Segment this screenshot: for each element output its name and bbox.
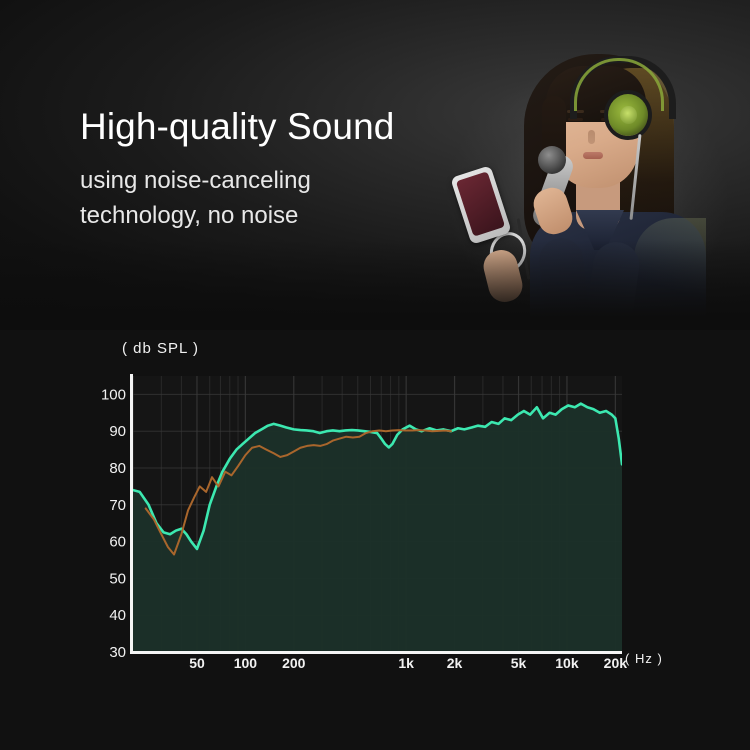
y-tick-label: 100 — [101, 386, 126, 403]
x-tick-label: 10k — [555, 655, 579, 671]
y-tick-label: 40 — [109, 607, 126, 624]
y-tick-label: 80 — [109, 460, 126, 477]
y-tick-label: 50 — [109, 570, 126, 587]
x-tick-label: 200 — [282, 655, 306, 671]
x-axis-ticks: 501002001k2k5k10k20k — [189, 655, 627, 671]
y-tick-label: 70 — [109, 497, 126, 514]
y-axis-ticks: 10090807060504030 — [101, 386, 126, 661]
product-feature-page: High-quality Sound using noise-canceling… — [0, 0, 750, 750]
chart-svg: 10090807060504030 501002001k2k5k10k20k — [0, 0, 750, 750]
x-tick-label: 50 — [189, 655, 205, 671]
y-tick-label: 30 — [109, 644, 126, 661]
x-tick-label: 2k — [447, 655, 463, 671]
x-tick-label: 1k — [398, 655, 414, 671]
x-tick-label: 100 — [234, 655, 258, 671]
x-tick-label: 20k — [604, 655, 628, 671]
y-tick-label: 90 — [109, 423, 126, 440]
x-tick-label: 5k — [511, 655, 527, 671]
y-tick-label: 60 — [109, 534, 126, 551]
